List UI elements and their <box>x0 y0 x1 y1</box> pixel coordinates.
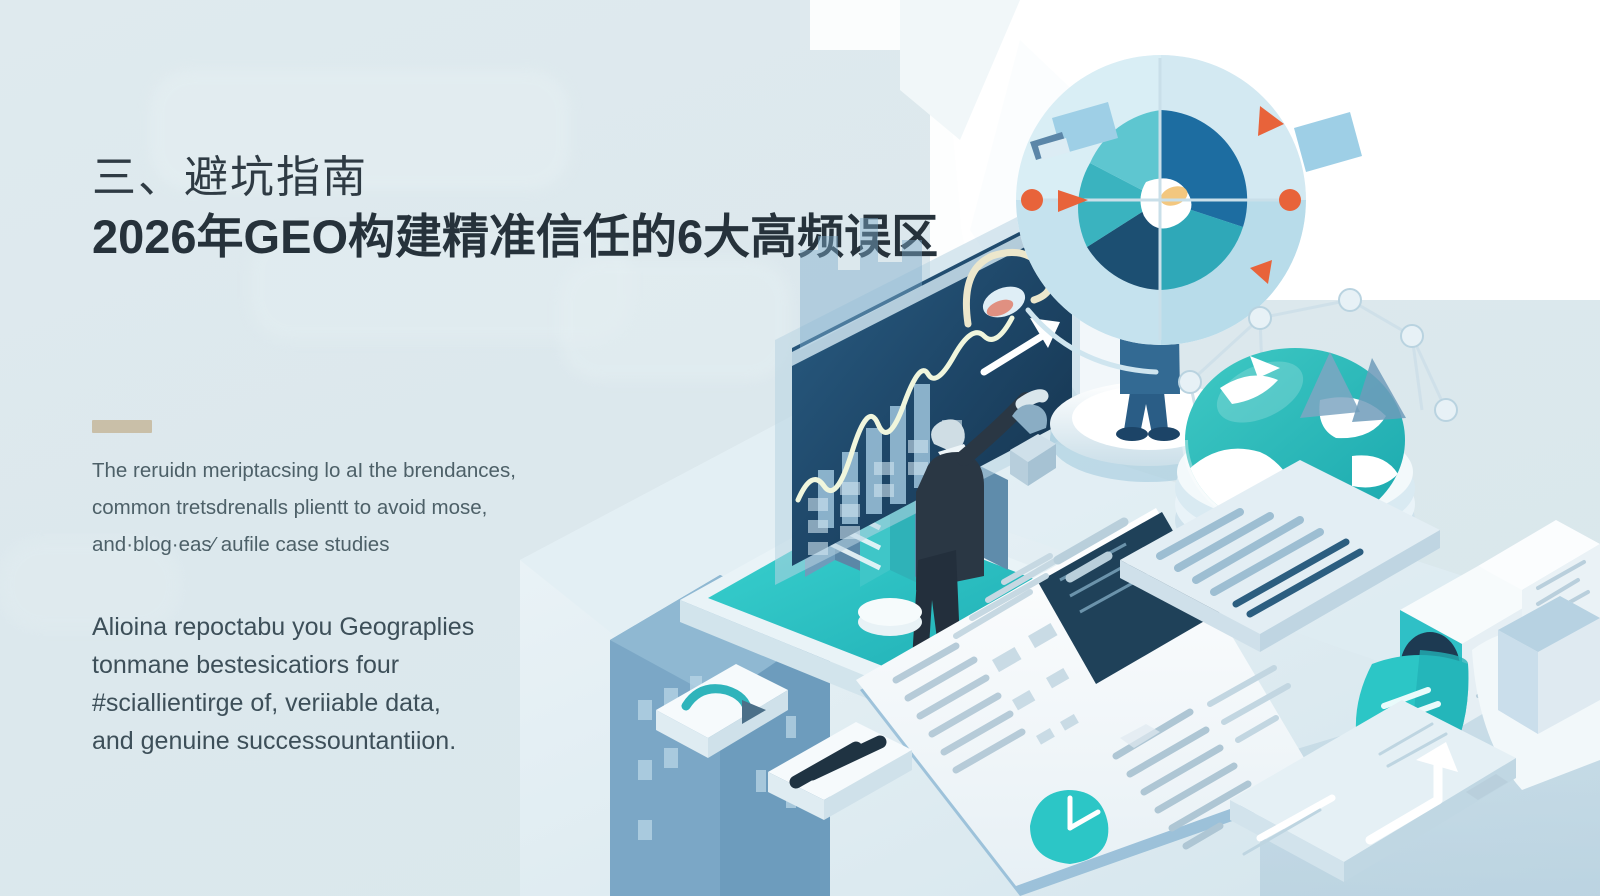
isometric-illustration <box>560 0 1600 896</box>
slide-canvas: 三、避坑指南 2026年GEO构建精准信任的6大高频误区 The reruidn… <box>0 0 1600 896</box>
body-paragraph-1: The reruidn meriptacsing lo aI the brend… <box>92 452 612 563</box>
clock-blob <box>1030 790 1108 864</box>
accent-bar <box>92 420 152 433</box>
paragraph1-line: common tretsdrenalls plientt to avoid mo… <box>92 489 612 526</box>
paragraph1-line: The reruidn meriptacsing lo aI the brend… <box>92 452 612 489</box>
